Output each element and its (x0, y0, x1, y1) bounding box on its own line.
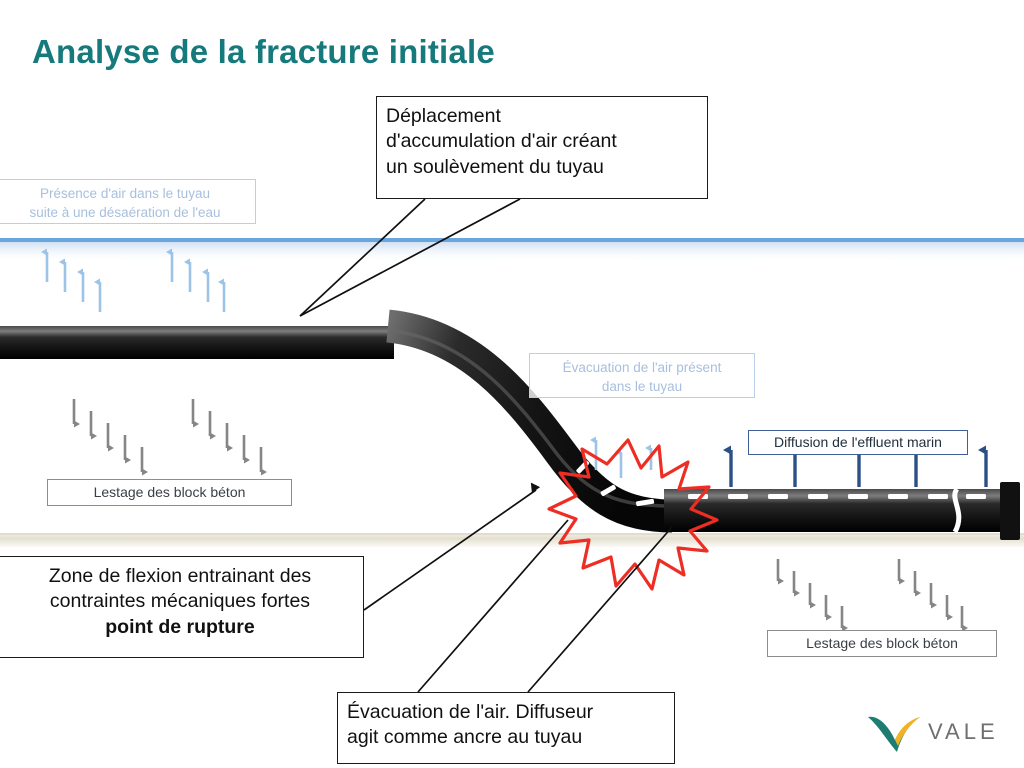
note-air-presence-line-1: Présence d'air dans le tuyau (3, 185, 247, 204)
note-air-presence: Présence d'air dans le tuyau suite à une… (0, 179, 256, 224)
callout-displacement-line-2: d'accumulation d'air créant (386, 129, 698, 154)
note-air-evacuation-line-2: dans le tuyau (538, 378, 746, 397)
callout-flexion-rupture-point: point de rupture (6, 615, 354, 640)
callout-flexion: Zone de flexion entrainant des contraint… (0, 556, 364, 658)
callout-flexion-line-2: contraintes mécaniques fortes (6, 589, 354, 614)
callout-displacement: Déplacement d'accumulation d'air créant … (376, 96, 708, 199)
label-ballast-right: Lestage des block béton (767, 630, 997, 657)
ballast-arrows-left (74, 399, 261, 472)
water-surface (0, 240, 1024, 263)
callout-displacement-line-1: Déplacement (386, 104, 698, 129)
callout-displacement-line-3: un soulèvement du tuyau (386, 155, 698, 180)
vale-check-icon (866, 709, 922, 755)
note-air-evacuation: Évacuation de l'air présent dans le tuya… (529, 353, 755, 398)
vale-logo: VALE (866, 706, 1010, 758)
note-air-evacuation-line-1: Évacuation de l'air présent (538, 359, 746, 378)
ballast-arrows-right (778, 559, 962, 628)
vale-wordmark: VALE (928, 719, 999, 745)
callout-air-evacuation-line-2: agit comme ancre au tuyau (347, 725, 665, 750)
effluent-diffusion-arrows (731, 450, 986, 487)
label-ballast-left: Lestage des block béton (47, 479, 292, 506)
slide-canvas: Analyse de la fracture initiale Présence… (0, 0, 1024, 768)
callout-flexion-line-1: Zone de flexion entrainant des (6, 564, 354, 589)
label-diffusion-effluent: Diffusion de l'effluent marin (748, 430, 968, 455)
note-air-presence-line-2: suite à une désaération de l'eau (3, 204, 247, 223)
callout-air-evacuation-line-1: Évacuation de l'air. Diffuseur (347, 700, 665, 725)
seabed (0, 533, 1024, 547)
page-title: Analyse de la fracture initiale (32, 33, 495, 71)
callout-air-evacuation: Évacuation de l'air. Diffuseur agit comm… (337, 692, 675, 764)
